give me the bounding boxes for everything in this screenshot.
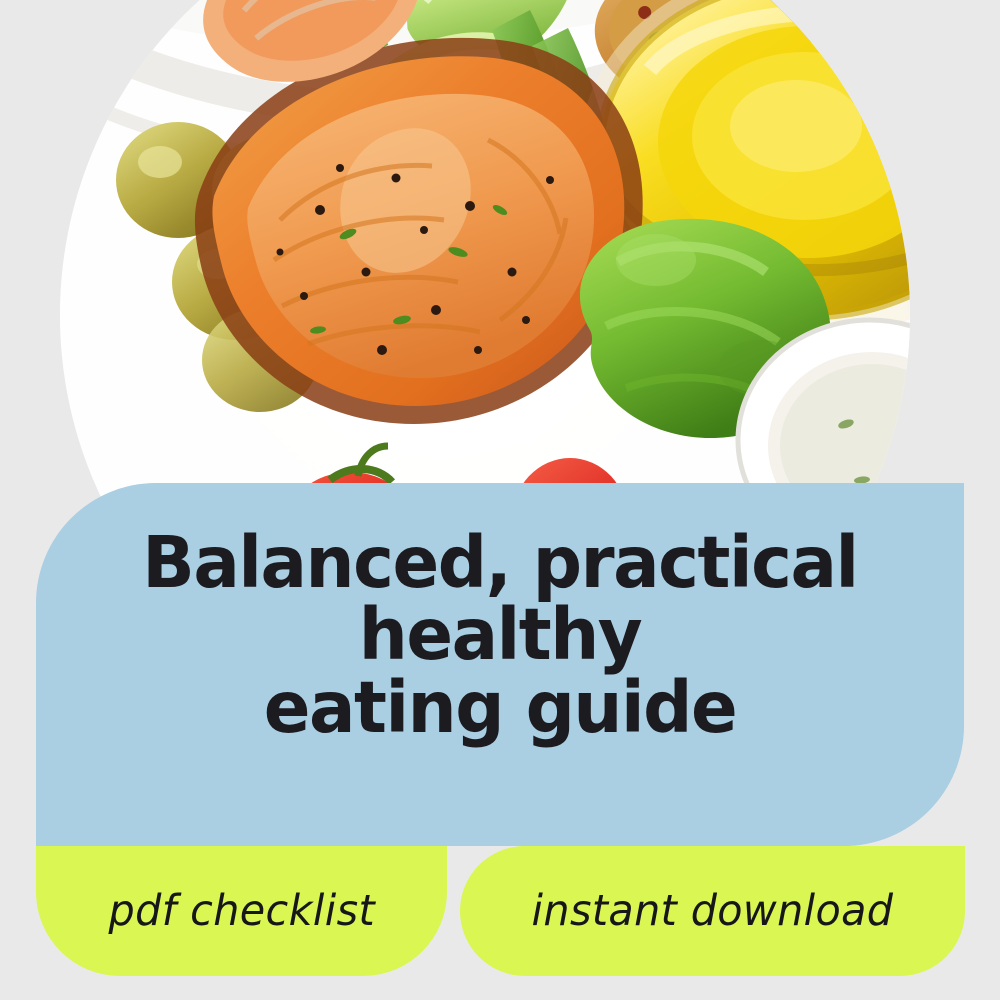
tag-instant-download[interactable]: instant download xyxy=(460,846,965,976)
tag-label: instant download xyxy=(532,886,894,936)
tag-pdf-checklist[interactable]: pdf checklist xyxy=(36,846,447,976)
headline-card: Balanced, practical healthy eating guide xyxy=(36,483,964,846)
tag-row: pdf checklist instant download xyxy=(36,846,965,976)
page-title: Balanced, practical healthy eating guide xyxy=(73,527,927,830)
poster-canvas: Balanced, practical healthy eating guide… xyxy=(0,0,1000,1000)
tag-label: pdf checklist xyxy=(108,886,375,936)
